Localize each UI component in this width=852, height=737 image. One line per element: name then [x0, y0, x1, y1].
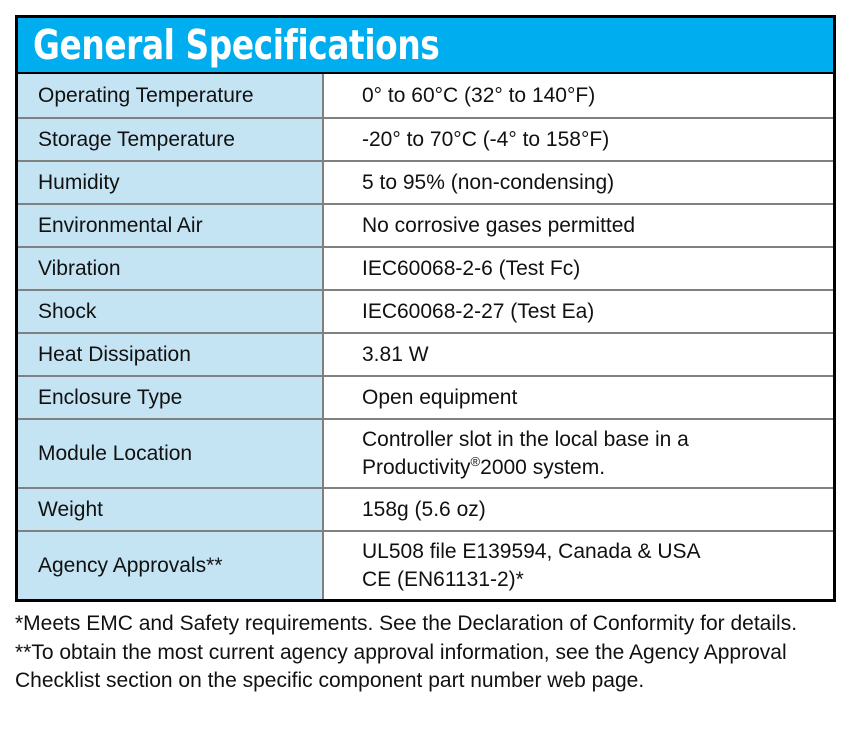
spec-label: Vibration	[18, 248, 324, 289]
spec-label: Weight	[18, 489, 324, 530]
table-body: Operating Temperature0° to 60°C (32° to …	[18, 74, 833, 599]
spec-value: No corrosive gases permitted	[324, 205, 833, 246]
table-row: VibrationIEC60068-2-6 (Test Fc)	[18, 246, 833, 289]
spec-value-line: Controller slot in the local base in a	[362, 426, 823, 454]
spec-value-line: IEC60068-2-27 (Test Ea)	[362, 298, 823, 326]
table-row: Enclosure TypeOpen equipment	[18, 375, 833, 418]
spec-label: Agency Approvals**	[18, 532, 324, 599]
table-row: Environmental AirNo corrosive gases perm…	[18, 203, 833, 246]
spec-value: -20° to 70°C (-4° to 158°F)	[324, 119, 833, 160]
table-row: Agency Approvals**UL508 file E139594, Ca…	[18, 530, 833, 599]
table-row: Operating Temperature0° to 60°C (32° to …	[18, 74, 833, 117]
table-row: Module LocationController slot in the lo…	[18, 418, 833, 487]
spec-value-line: IEC60068-2-6 (Test Fc)	[362, 255, 823, 283]
spec-value-line: -20° to 70°C (-4° to 158°F)	[362, 126, 823, 154]
table-title: General Specifications	[33, 25, 439, 66]
footnote: **To obtain the most current agency appr…	[15, 639, 825, 696]
spec-value: 5 to 95% (non-condensing)	[324, 162, 833, 203]
spec-label: Shock	[18, 291, 324, 332]
spec-value-line: 5 to 95% (non-condensing)	[362, 169, 823, 197]
spec-label: Environmental Air	[18, 205, 324, 246]
table-row: Humidity5 to 95% (non-condensing)	[18, 160, 833, 203]
footnote: *Meets EMC and Safety requirements. See …	[15, 610, 825, 639]
table-header: General Specifications	[18, 18, 833, 74]
table-row: Weight158g (5.6 oz)	[18, 487, 833, 530]
spec-value-line: 0° to 60°C (32° to 140°F)	[362, 82, 823, 110]
spec-sheet-page: General Specifications Operating Tempera…	[0, 0, 852, 737]
spec-value-line: UL508 file E139594, Canada & USA	[362, 538, 823, 566]
spec-label: Module Location	[18, 420, 324, 487]
spec-value-line: No corrosive gases permitted	[362, 212, 823, 240]
spec-value: 3.81 W	[324, 334, 833, 375]
spec-label: Enclosure Type	[18, 377, 324, 418]
spec-value-line: CE (EN61131-2)*	[362, 566, 823, 594]
table-row: Storage Temperature-20° to 70°C (-4° to …	[18, 117, 833, 160]
spec-label: Storage Temperature	[18, 119, 324, 160]
spec-label: Heat Dissipation	[18, 334, 324, 375]
spec-value-line: Open equipment	[362, 384, 823, 412]
spec-value: 158g (5.6 oz)	[324, 489, 833, 530]
spec-value: IEC60068-2-6 (Test Fc)	[324, 248, 833, 289]
general-specifications-table: General Specifications Operating Tempera…	[15, 15, 836, 602]
spec-label: Operating Temperature	[18, 74, 324, 117]
table-row: Heat Dissipation3.81 W	[18, 332, 833, 375]
table-row: ShockIEC60068-2-27 (Test Ea)	[18, 289, 833, 332]
spec-value-line: 158g (5.6 oz)	[362, 496, 823, 524]
spec-value-line: Productivity®2000 system.	[362, 454, 823, 482]
footnotes: *Meets EMC and Safety requirements. See …	[15, 610, 825, 696]
spec-label: Humidity	[18, 162, 324, 203]
spec-value: Open equipment	[324, 377, 833, 418]
spec-value-line: 3.81 W	[362, 341, 823, 369]
spec-value: IEC60068-2-27 (Test Ea)	[324, 291, 833, 332]
spec-value: 0° to 60°C (32° to 140°F)	[324, 74, 833, 117]
spec-value: Controller slot in the local base in aPr…	[324, 420, 833, 487]
spec-value: UL508 file E139594, Canada & USACE (EN61…	[324, 532, 833, 599]
